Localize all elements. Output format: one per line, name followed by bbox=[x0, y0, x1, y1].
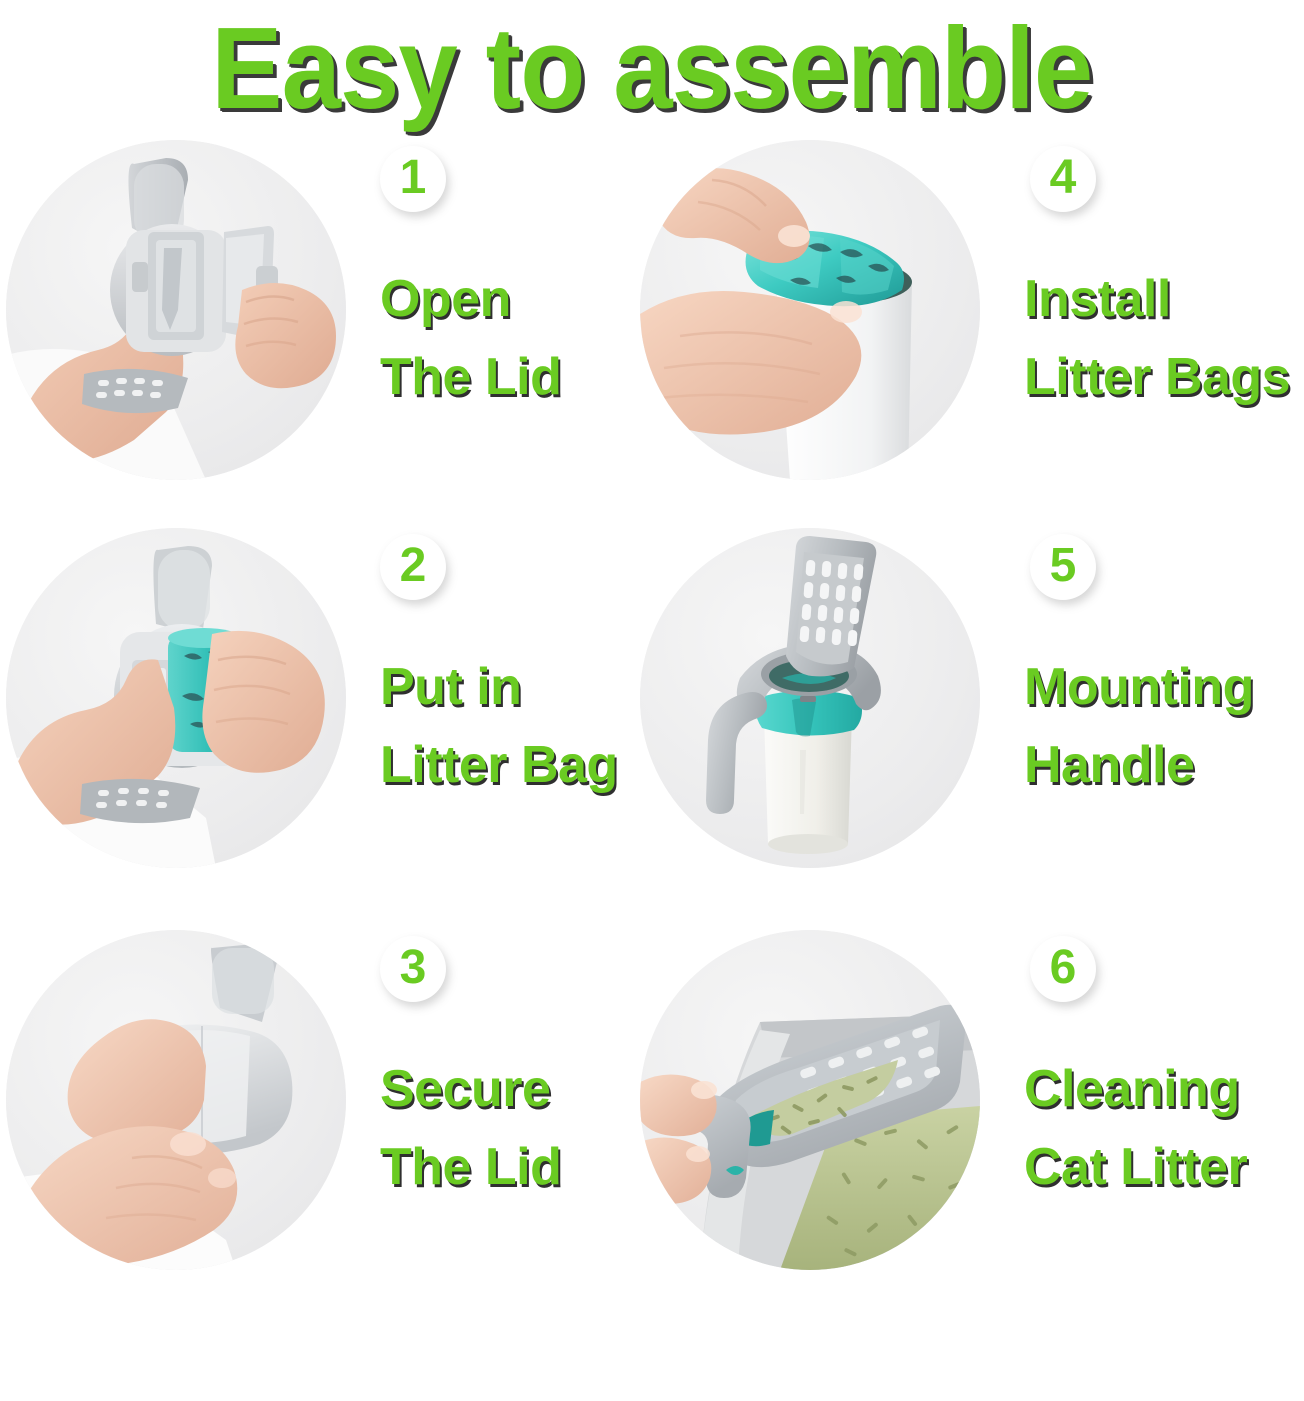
illustration-put-in-litter-bag bbox=[6, 528, 346, 868]
step-2: 2 Put in Litter Bag bbox=[6, 528, 646, 868]
step-6-badge: 6 bbox=[1030, 936, 1096, 1002]
step-1-number: 1 bbox=[400, 154, 427, 202]
step-3-number: 3 bbox=[400, 944, 427, 992]
step-5-badge: 5 bbox=[1030, 534, 1096, 600]
step-1-label-line1: Open bbox=[380, 260, 646, 338]
step-4-badge: 4 bbox=[1030, 146, 1096, 212]
step-5-label-line1: Mounting bbox=[1024, 648, 1300, 726]
step-3-label-line1: Secure bbox=[380, 1050, 646, 1128]
photo-install-litter-bags bbox=[640, 140, 980, 480]
step-1-badge: 1 bbox=[380, 146, 446, 212]
illustration-secure-the-lid bbox=[6, 930, 346, 1270]
step-5: 5 Mounting Handle bbox=[640, 528, 1300, 868]
step-1: 1 Open The Lid bbox=[6, 140, 646, 480]
photo-cleaning-cat-litter bbox=[640, 930, 980, 1270]
step-6-text: 6 Cleaning Cat Litter bbox=[980, 930, 1300, 1206]
step-2-label-line2: Litter Bag bbox=[380, 726, 646, 804]
photo-mounting-handle bbox=[640, 528, 980, 868]
steps-grid: 1 Open The Lid bbox=[0, 130, 1304, 1360]
step-1-text: 1 Open The Lid bbox=[346, 140, 646, 416]
step-5-label-line2: Handle bbox=[1024, 726, 1300, 804]
step-4-number: 4 bbox=[1050, 154, 1077, 202]
step-4: 4 Install Litter Bags bbox=[640, 140, 1300, 480]
photo-secure-the-lid bbox=[6, 930, 346, 1270]
step-4-label-line1: Install bbox=[1024, 260, 1300, 338]
step-5-number: 5 bbox=[1050, 542, 1077, 590]
step-2-number: 2 bbox=[400, 542, 427, 590]
step-2-badge: 2 bbox=[380, 534, 446, 600]
step-3-label-line2: The Lid bbox=[380, 1128, 646, 1206]
step-3: 3 Secure The Lid bbox=[6, 930, 646, 1270]
illustration-cleaning-cat-litter bbox=[640, 930, 980, 1270]
step-3-badge: 3 bbox=[380, 936, 446, 1002]
step-6-label-line2: Cat Litter bbox=[1024, 1128, 1300, 1206]
illustration-open-the-lid bbox=[6, 140, 346, 480]
illustration-install-litter-bags bbox=[640, 140, 980, 480]
photo-put-in-litter-bag bbox=[6, 528, 346, 868]
page-title: Easy to assemble bbox=[211, 6, 1092, 130]
header: Easy to assemble bbox=[0, 0, 1304, 130]
step-4-text: 4 Install Litter Bags bbox=[980, 140, 1300, 416]
step-2-text: 2 Put in Litter Bag bbox=[346, 528, 646, 804]
step-6-number: 6 bbox=[1050, 944, 1077, 992]
step-1-label-line2: The Lid bbox=[380, 338, 646, 416]
step-6: 6 Cleaning Cat Litter bbox=[640, 930, 1300, 1270]
step-3-text: 3 Secure The Lid bbox=[346, 930, 646, 1206]
illustration-mounting-handle bbox=[640, 528, 980, 868]
photo-open-the-lid bbox=[6, 140, 346, 480]
step-2-label-line1: Put in bbox=[380, 648, 646, 726]
step-4-label-line2: Litter Bags bbox=[1024, 338, 1300, 416]
step-6-label-line1: Cleaning bbox=[1024, 1050, 1300, 1128]
step-5-text: 5 Mounting Handle bbox=[980, 528, 1300, 804]
